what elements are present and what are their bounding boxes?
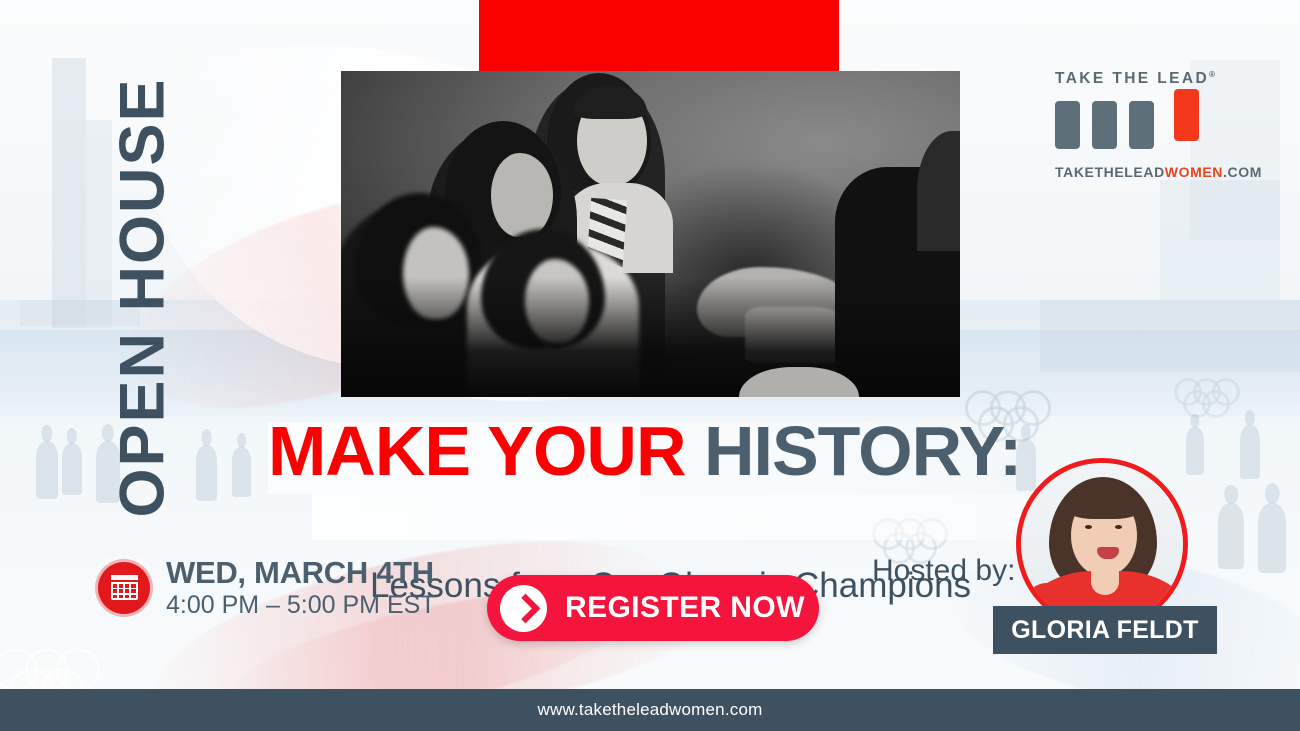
logo-bar (1055, 101, 1080, 149)
host-nameplate: GLORIA FELDT (993, 606, 1217, 654)
logo-url-part1: TAKETHELEAD (1055, 164, 1165, 180)
background-crowd-figure (1218, 503, 1244, 569)
audience-photo (341, 71, 960, 397)
red-accent-block (479, 0, 839, 72)
background-crowd-figure (1258, 503, 1286, 573)
photo-figure-face (491, 153, 553, 237)
trademark-symbol: ® (1209, 70, 1215, 79)
calendar-grid (113, 584, 136, 598)
logo-url: TAKETHELEADWOMEN.COM (1055, 164, 1240, 180)
photo-foreground-shade (341, 277, 960, 397)
event-date: WED, MARCH 4TH (166, 556, 436, 591)
logo-wordmark-text: TAKE THE LEAD (1055, 70, 1209, 87)
avatar-neckline (1091, 569, 1119, 595)
calendar-sheet (111, 575, 138, 600)
background-crowd-figure (62, 443, 82, 495)
register-button-label: REGISTER NOW (565, 591, 805, 625)
event-date-text: WED, MARCH 4TH 4:00 PM – 5:00 PM EST (166, 556, 436, 619)
footer-bar: www.taketheleadwomen.com (0, 689, 1300, 731)
background-crowd-figure (196, 445, 217, 501)
background-structure (1040, 300, 1300, 372)
avatar-eye (1085, 525, 1092, 529)
title-slate-part: HISTORY: (686, 412, 1022, 490)
background-structure (52, 58, 86, 328)
calendar-icon (98, 562, 150, 614)
logo-bars (1055, 101, 1240, 149)
avatar (1016, 458, 1188, 630)
avatar-eye (1115, 525, 1122, 529)
event-date-block: WED, MARCH 4TH 4:00 PM – 5:00 PM EST (98, 556, 436, 619)
host-name: GLORIA FELDT (1011, 616, 1198, 645)
hosted-by-label: Hosted by: (872, 554, 1015, 588)
logo-url-part3: .COM (1223, 164, 1262, 180)
background-crowd-figure (36, 441, 58, 499)
calendar-header (111, 575, 138, 582)
open-house-label: OPEN HOUSE (112, 77, 175, 517)
logo-bar (1129, 101, 1154, 149)
logo-bar-accent (1174, 89, 1199, 141)
background-crowd-figure (1186, 427, 1204, 475)
event-poster: OPEN HOUSE MAKE (0, 0, 1300, 731)
logo-bar (1092, 101, 1117, 149)
open-house-eyebrow: OPEN HOUSE (106, 62, 180, 532)
take-the-lead-logo: TAKE THE LEAD® TAKETHELEADWOMEN.COM (1055, 70, 1240, 180)
calendar-tab-right (140, 558, 143, 565)
footer-website: www.taketheleadwomen.com (538, 700, 763, 720)
background-crowd-figure (1240, 425, 1260, 479)
register-now-button[interactable]: REGISTER NOW (487, 575, 819, 641)
background-crowd-figure (232, 447, 251, 497)
calendar-tab-left (105, 558, 108, 565)
chevron-right-icon (500, 585, 547, 632)
logo-wordmark: TAKE THE LEAD® (1055, 70, 1240, 88)
title-red-part: MAKE YOUR (268, 412, 686, 490)
page-title: MAKE YOUR HISTORY: (268, 416, 1058, 487)
olympic-rings-watermark (1174, 378, 1284, 422)
event-time: 4:00 PM – 5:00 PM EST (166, 591, 436, 620)
logo-url-part2: WOMEN (1165, 164, 1223, 180)
